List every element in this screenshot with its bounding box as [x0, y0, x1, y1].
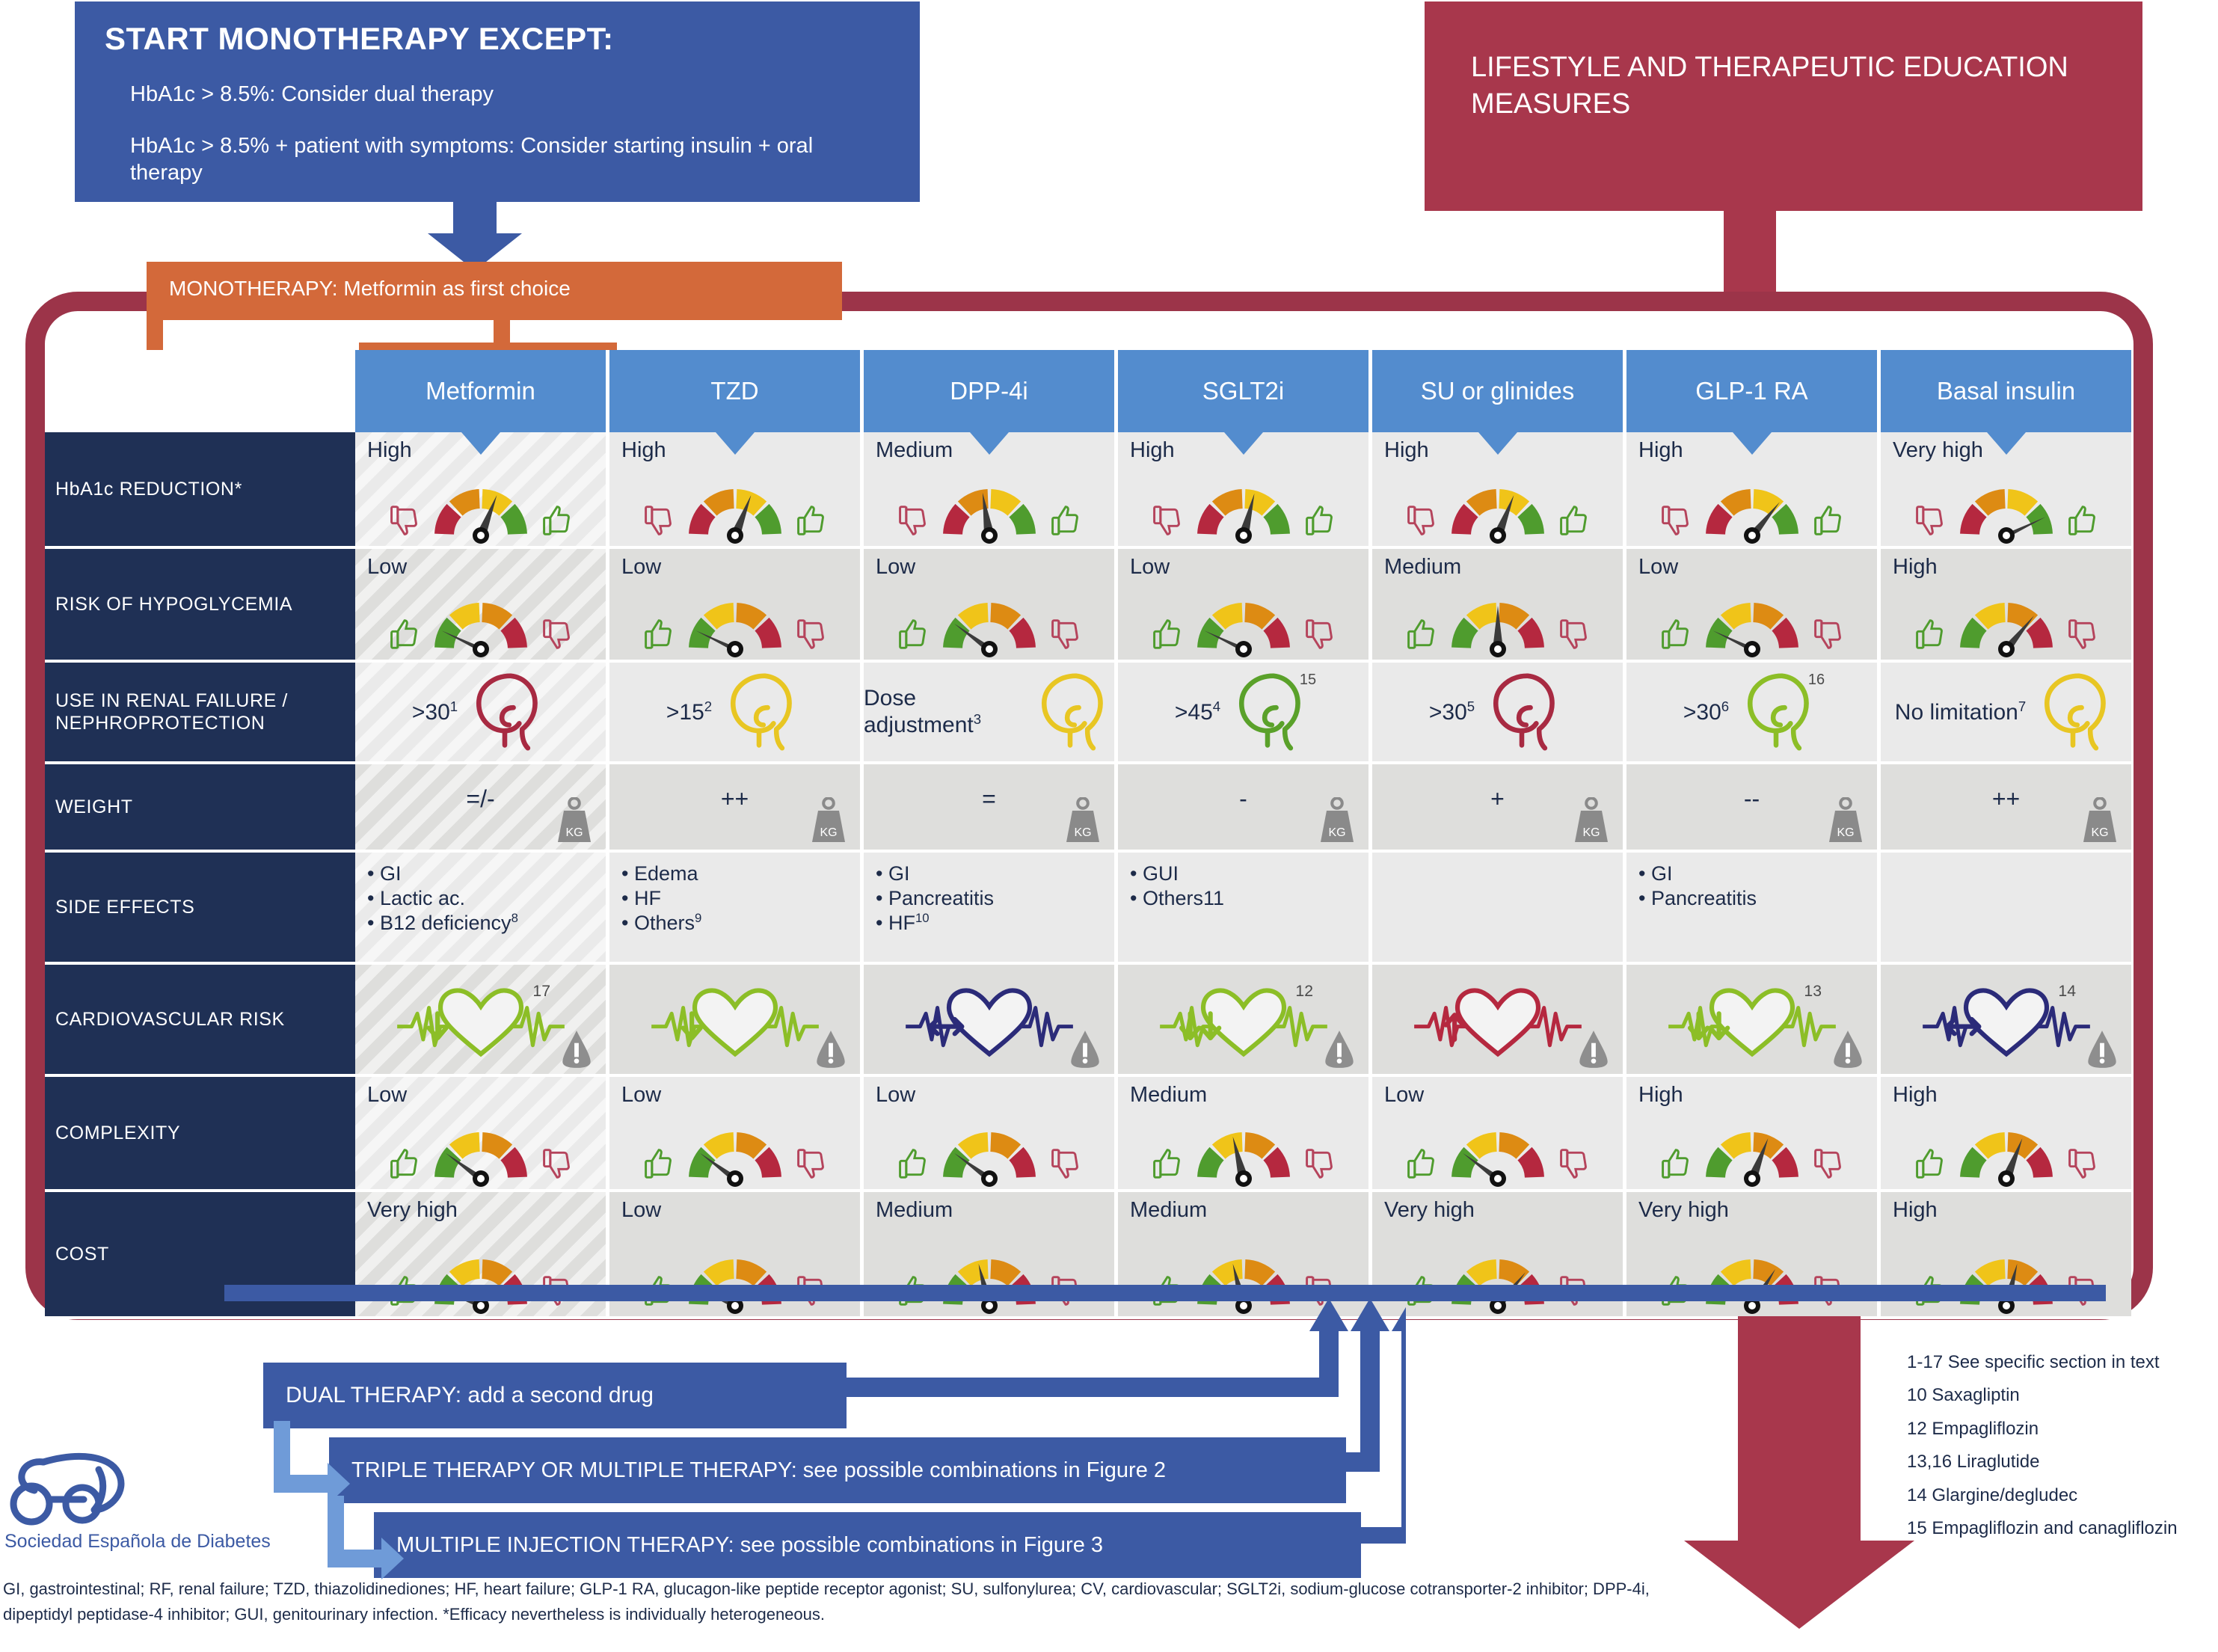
- weight-kg-icon: KG: [1063, 797, 1102, 844]
- cell-glp-1-ra: High: [1626, 432, 1881, 549]
- start-monotherapy-box: START MONOTHERAPY EXCEPT: HbA1c > 8.5%: …: [75, 1, 920, 202]
- cell-glp-1-ra: Low: [1626, 549, 1881, 663]
- table-row: RISK OF HYPOGLYCEMIALow Low Low Low Medi…: [45, 549, 2131, 663]
- triple-therapy-box[interactable]: TRIPLE THERAPY OR MULTIPLE THERAPY: see …: [329, 1437, 1346, 1503]
- cell-basal-insulin: High: [1881, 1077, 2131, 1192]
- gauge-indicator: [1372, 583, 1623, 658]
- kidney-icon: [2029, 670, 2117, 754]
- gauge-indicator: [1626, 1240, 1877, 1315]
- gauge-indicator: [355, 1240, 606, 1315]
- kidney-indicator: >152: [609, 663, 860, 761]
- row-label-cardiovascular-risk: CARDIOVASCULAR RISK: [45, 965, 355, 1077]
- gauge-indicator: [609, 583, 860, 658]
- side-effect-item: • GI: [1638, 862, 1877, 886]
- cell-value: Medium: [876, 1198, 953, 1223]
- warning-icon: [1831, 1029, 1865, 1069]
- svg-text:KG: KG: [1074, 826, 1091, 839]
- gauge-indicator: [1372, 1113, 1623, 1188]
- cell-dpp-4i: =KG: [864, 764, 1118, 853]
- cell-su-or-glinides: >305: [1372, 663, 1626, 764]
- svg-text:KG: KG: [565, 826, 583, 839]
- cell-dpp-4i: Low: [864, 549, 1118, 663]
- gauge-indicator: [1372, 470, 1623, 544]
- start-monotherapy-bullet-1: HbA1c > 8.5%: Consider dual therapy: [105, 82, 890, 107]
- cell-value: >301: [412, 698, 458, 726]
- gauge-indicator: [1118, 470, 1368, 544]
- cell-tzd: Low: [609, 1077, 864, 1192]
- cell-su-or-glinides: Low: [1372, 1077, 1626, 1192]
- legend-item: 10 Saxagliptin: [1907, 1379, 2218, 1412]
- warning-icon: [559, 1029, 594, 1069]
- warning-icon: [1576, 1029, 1611, 1069]
- cell-value: Low: [876, 555, 915, 580]
- cell-basal-insulin: Very high: [1881, 432, 2131, 549]
- kidney-indicator: No limitation7: [1881, 663, 2131, 761]
- cell-metformin: 17: [355, 965, 609, 1077]
- cell-tzd: Low: [609, 549, 864, 663]
- cell-glp-1-ra: High: [1626, 1077, 1881, 1192]
- cell-sglt2i: 12: [1118, 965, 1372, 1077]
- side-effect-item: • Others9: [621, 911, 860, 936]
- row-label-hba1c-reduction: HbA1c REDUCTION*: [45, 432, 355, 549]
- gauge-indicator: [355, 1113, 606, 1188]
- sed-logo: Sociedad Española de Diabetes: [4, 1447, 271, 1553]
- cell-value: Medium: [1384, 555, 1461, 580]
- cell-value: High: [621, 438, 666, 463]
- cell-su-or-glinides: [1372, 965, 1626, 1077]
- footnote-legend: 1-17 See specific section in text 10 Sax…: [1907, 1346, 2218, 1545]
- side-effect-item: • GI: [367, 862, 606, 886]
- row-label-use-in-renal-failure-nephroprotection: USE IN RENAL FAILURE / NEPHROPROTECTION: [45, 663, 355, 764]
- side-effect-item: • Edema: [621, 862, 860, 886]
- cell-value: Low: [367, 1083, 407, 1108]
- svg-text:KG: KG: [2091, 826, 2108, 839]
- warning-icon: [2085, 1029, 2119, 1069]
- cell-value: Medium: [876, 438, 953, 463]
- gauge-indicator: [1626, 583, 1877, 658]
- cell-value: Low: [621, 1083, 661, 1108]
- cell-sglt2i: >454 15: [1118, 663, 1372, 764]
- legend-item: 12 Empagliflozin: [1907, 1413, 2218, 1446]
- cell-value: Low: [1130, 555, 1170, 580]
- cell-sglt2i: Low: [1118, 549, 1372, 663]
- cell-value: >305: [1429, 698, 1475, 726]
- side-effects-list: [1372, 853, 1623, 862]
- gauge-indicator: [1626, 470, 1877, 544]
- weight-kg-icon: KG: [1572, 797, 1611, 844]
- gauge-indicator: [355, 583, 606, 658]
- gauge-indicator: [1881, 1113, 2131, 1188]
- kidney-icon: [1026, 670, 1114, 754]
- sed-logo-icon: [4, 1447, 199, 1529]
- cell-value: High: [1893, 1083, 1938, 1108]
- gauge-indicator: [609, 1113, 860, 1188]
- svg-text:13: 13: [1804, 983, 1822, 1000]
- cell-basal-insulin: No limitation7: [1881, 663, 2131, 764]
- therapy-connector-arrows: [823, 1294, 1406, 1548]
- weight-kg-icon: KG: [555, 797, 594, 844]
- monotherapy-box: MONOTHERAPY: Metformin as first choice: [147, 262, 842, 320]
- cell-sglt2i: High: [1118, 432, 1372, 549]
- side-effect-item: • Others11: [1130, 886, 1368, 911]
- cell-value: Very high: [1384, 1198, 1475, 1223]
- column-header-metformin: Metformin: [355, 350, 609, 432]
- svg-text:KG: KG: [1328, 826, 1345, 839]
- weight-kg-icon: KG: [2080, 797, 2119, 844]
- gauge-indicator: [1626, 1113, 1877, 1188]
- column-header-basal-insulin: Basal insulin: [1881, 350, 2131, 432]
- table-row: WEIGHT=/-KG++KG=KG-KG+KG--KG++KG: [45, 764, 2131, 853]
- cell-glp-1-ra: • GI• Pancreatitis: [1626, 853, 1881, 965]
- cell-su-or-glinides: High: [1372, 432, 1626, 549]
- cell-tzd: High: [609, 432, 864, 549]
- cell-value: Medium: [1130, 1083, 1207, 1108]
- side-effects-list: • GUI• Others11: [1118, 853, 1368, 911]
- red-down-arrow-icon: [1675, 1316, 1922, 1630]
- cell-basal-insulin: ++KG: [1881, 764, 2131, 853]
- start-monotherapy-bullet-2: HbA1c > 8.5% + patient with symptoms: Co…: [105, 132, 890, 187]
- cell-value: Low: [1638, 555, 1678, 580]
- start-monotherapy-title: START MONOTHERAPY EXCEPT:: [105, 21, 890, 57]
- gauge-indicator: [864, 470, 1114, 544]
- svg-text:12: 12: [1295, 983, 1313, 1000]
- gauge-indicator: [864, 1113, 1114, 1188]
- cell-value: High: [1638, 1083, 1683, 1108]
- cell-metformin: • GI• Lactic ac.• B12 deficiency8: [355, 853, 609, 965]
- gauge-indicator: [1881, 583, 2131, 658]
- cell-su-or-glinides: +KG: [1372, 764, 1626, 853]
- kidney-icon: 15: [1223, 670, 1312, 754]
- cell-sglt2i: -KG: [1118, 764, 1372, 853]
- gauge-indicator: [609, 1240, 860, 1315]
- svg-text:14: 14: [2058, 983, 2076, 1000]
- svg-text:17: 17: [532, 983, 550, 1000]
- therapy-comparison-table: Metformin TZD DPP-4i SGLT2i SU or glinid…: [45, 350, 2131, 1319]
- cell-glp-1-ra: 13: [1626, 965, 1881, 1077]
- side-effect-item: • GUI: [1130, 862, 1368, 886]
- table-row: HbA1c REDUCTION*High High Medium High Hi…: [45, 432, 2131, 549]
- cell-su-or-glinides: Medium: [1372, 549, 1626, 663]
- cell-glp-1-ra: --KG: [1626, 764, 1881, 853]
- svg-text:KG: KG: [1837, 826, 1854, 839]
- column-header-sglt2i: SGLT2i: [1118, 350, 1372, 432]
- gauge-indicator: [1118, 583, 1368, 658]
- cell-value: Low: [621, 555, 661, 580]
- side-effects-list: • GI• Pancreatitis: [1626, 853, 1877, 911]
- gauge-indicator: [1881, 470, 2131, 544]
- side-effect-item: • Pancreatitis: [1638, 886, 1877, 911]
- column-header-dpp4i: DPP-4i: [864, 350, 1118, 432]
- cell-dpp-4i: • GI• Pancreatitis• HF10: [864, 853, 1118, 965]
- table-header-row: Metformin TZD DPP-4i SGLT2i SU or glinid…: [45, 350, 2131, 432]
- cell-basal-insulin: [1881, 853, 2131, 965]
- side-effect-item: • GI: [876, 862, 1114, 886]
- cell-value: Medium: [1130, 1198, 1207, 1223]
- kidney-indicator: >306 16: [1626, 663, 1877, 761]
- side-effect-item: • HF: [621, 886, 860, 911]
- cell-metformin: High: [355, 432, 609, 549]
- lifestyle-education-box: LIFESTYLE AND THERAPEUTIC EDUCATION MEAS…: [1425, 1, 2142, 211]
- side-effect-item: • B12 deficiency8: [367, 911, 606, 936]
- table-corner-cell: [45, 350, 355, 432]
- cell-metformin: =/-KG: [355, 764, 609, 853]
- side-effect-item: • Pancreatitis: [876, 886, 1114, 911]
- cell-tzd: >152: [609, 663, 864, 764]
- weight-kg-icon: KG: [809, 797, 848, 844]
- gauge-indicator: [609, 470, 860, 544]
- kidney-indicator: Dose adjustment3: [864, 663, 1114, 761]
- kidney-icon: [461, 670, 549, 754]
- kidney-indicator: >454 15: [1118, 663, 1368, 761]
- cell-metformin: Low: [355, 1077, 609, 1192]
- column-header-glp1ra: GLP-1 RA: [1626, 350, 1881, 432]
- svg-text:KG: KG: [820, 826, 837, 839]
- cell-basal-insulin: High: [1881, 549, 2131, 663]
- cell-value: High: [1130, 438, 1175, 463]
- cell-value: Very high: [1893, 438, 1983, 463]
- gauge-indicator: [1118, 1240, 1368, 1315]
- cell-metformin: >301: [355, 663, 609, 764]
- gauge-indicator: [864, 1240, 1114, 1315]
- kidney-indicator: >301: [355, 663, 606, 761]
- cell-value: Low: [876, 1083, 915, 1108]
- cell-value: >152: [666, 698, 712, 726]
- cell-tzd: • Edema• HF• Others9: [609, 853, 864, 965]
- sed-logo-label: Sociedad Española de Diabetes: [4, 1531, 271, 1553]
- gauge-indicator: [1372, 1240, 1623, 1315]
- row-label-side-effects: SIDE EFFECTS: [45, 853, 355, 965]
- side-effects-list: [1881, 853, 2131, 862]
- cell-tzd: [609, 965, 864, 1077]
- cell-value: No limitation7: [1895, 698, 2026, 726]
- legend-item: 15 Empagliflozin and canagliflozin: [1907, 1512, 2218, 1545]
- cell-value: Low: [621, 1198, 661, 1223]
- cell-value: Very high: [367, 1198, 458, 1223]
- cell-sglt2i: Medium: [1118, 1077, 1372, 1192]
- cell-value: High: [1893, 1198, 1938, 1223]
- gauge-indicator: [1118, 1113, 1368, 1188]
- legend-item: 14 Glargine/degludec: [1907, 1479, 2218, 1512]
- cell-value: High: [1638, 438, 1683, 463]
- lifestyle-education-title: LIFESTYLE AND THERAPEUTIC EDUCATION MEAS…: [1471, 49, 2096, 122]
- cell-value: Low: [1384, 1083, 1424, 1108]
- abbreviations-footnote: GI, gastrointestinal; RF, renal failure;…: [3, 1576, 1678, 1627]
- side-effects-list: • GI• Lactic ac.• B12 deficiency8: [355, 853, 606, 936]
- table-row: USE IN RENAL FAILURE / NEPHROPROTECTION …: [45, 663, 2131, 764]
- elbow-arrow-2-icon: [323, 1496, 405, 1585]
- cell-value: High: [1893, 555, 1938, 580]
- gauge-indicator: [864, 583, 1114, 658]
- cell-dpp-4i: [864, 965, 1118, 1077]
- cell-value: Low: [367, 555, 407, 580]
- gauge-indicator: [1881, 1240, 2131, 1315]
- cell-value: Very high: [1638, 1198, 1729, 1223]
- side-effect-item: • HF10: [876, 911, 1114, 936]
- legend-item: 1-17 See specific section in text: [1907, 1346, 2218, 1379]
- weight-kg-icon: KG: [1826, 797, 1865, 844]
- table-row: CARDIOVASCULAR RISK 17 12 13: [45, 965, 2131, 1077]
- warning-icon: [1068, 1029, 1102, 1069]
- cell-su-or-glinides: [1372, 853, 1626, 965]
- cell-glp-1-ra: >306 16: [1626, 663, 1881, 764]
- side-effects-list: • Edema• HF• Others9: [609, 853, 860, 936]
- kidney-icon: [1478, 670, 1566, 754]
- row-label-complexity: COMPLEXITY: [45, 1077, 355, 1192]
- cell-dpp-4i: Dose adjustment3: [864, 663, 1118, 764]
- side-effects-list: • GI• Pancreatitis• HF10: [864, 853, 1114, 936]
- side-effect-item: • Lactic ac.: [367, 886, 606, 911]
- column-header-tzd: TZD: [609, 350, 864, 432]
- cell-value: Dose adjustment3: [864, 686, 1023, 739]
- cell-tzd: ++KG: [609, 764, 864, 853]
- monotherapy-leg-left: [147, 320, 163, 350]
- table-row: SIDE EFFECTS• GI• Lactic ac.• B12 defici…: [45, 853, 2131, 965]
- cell-value: High: [367, 438, 412, 463]
- cell-dpp-4i: Medium: [864, 432, 1118, 549]
- cell-sglt2i: • GUI• Others11: [1118, 853, 1372, 965]
- kidney-icon: 16: [1732, 670, 1820, 754]
- warning-icon: [1322, 1029, 1357, 1069]
- cell-metformin: Low: [355, 549, 609, 663]
- cell-value: >306: [1683, 698, 1729, 726]
- table-row: COMPLEXITYLow Low Low Medium Low High Hi…: [45, 1077, 2131, 1192]
- svg-text:KG: KG: [1582, 826, 1600, 839]
- warning-icon: [814, 1029, 848, 1069]
- gauge-indicator: [355, 470, 606, 544]
- row-label-risk-of-hypoglycemia: RISK OF HYPOGLYCEMIA: [45, 549, 355, 663]
- multiple-injection-therapy-box[interactable]: MULTIPLE INJECTION THERAPY: see possible…: [374, 1512, 1361, 1578]
- cell-value: High: [1384, 438, 1429, 463]
- weight-kg-icon: KG: [1318, 797, 1357, 844]
- cell-dpp-4i: Low: [864, 1077, 1118, 1192]
- row-label-weight: WEIGHT: [45, 764, 355, 853]
- cell-value: >454: [1175, 698, 1220, 726]
- legend-item: 13,16 Liraglutide: [1907, 1446, 2218, 1478]
- kidney-indicator: >305: [1372, 663, 1623, 761]
- cell-basal-insulin: 14: [1881, 965, 2131, 1077]
- kidney-icon: [715, 670, 803, 754]
- blue-divider-bar: [224, 1285, 2106, 1301]
- dual-therapy-box[interactable]: DUAL THERAPY: add a second drug: [263, 1363, 847, 1428]
- column-header-su: SU or glinides: [1372, 350, 1626, 432]
